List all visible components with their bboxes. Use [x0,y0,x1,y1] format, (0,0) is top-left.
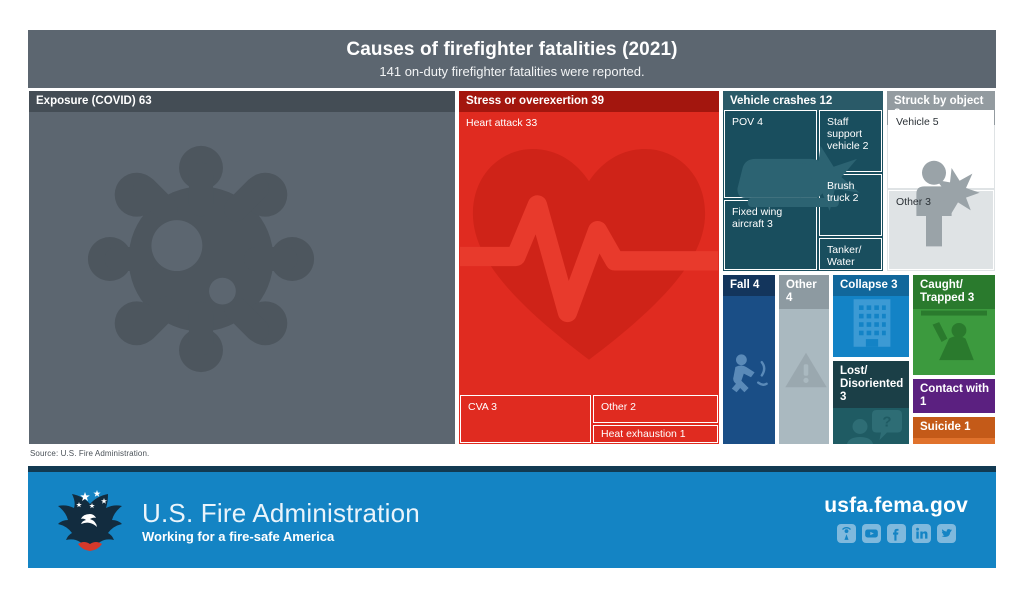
treemap-tile-staff-support[interactable]: Staff support vehicle 2 [819,110,882,172]
tile-label-tanker: Tanker/ Water tender 1 [820,239,881,270]
usfa-eagle-logo-icon [52,484,128,558]
tile-label-stress-other: Other 2 [594,396,717,413]
tile-label-suicide: Suicide 1 [913,417,995,438]
treemap-tile-pov[interactable]: POV 4 [724,110,817,198]
treemap-tile-collapse[interactable]: Collapse 3 [832,274,910,358]
treemap-tile-cva[interactable]: CVA 3 [460,395,591,443]
infographic-page: Causes of firefighter fatalities (2021) … [0,0,1024,592]
page-subtitle: 141 on-duty firefighter fatalities were … [379,64,644,79]
source-note: Source: U.S. Fire Administration. [30,449,149,458]
virus-icon [67,125,335,393]
building-icon [849,297,895,349]
tile-label-fall: Fall 4 [723,275,775,296]
treemap-tile-brush-truck[interactable]: Brush truck 2 [819,174,882,236]
tile-label-caught-trapped: Caught/ Trapped 3 [913,275,995,309]
treemap-tile-stress-other[interactable]: Other 2 [593,395,718,423]
facebook-icon[interactable] [887,524,906,543]
tile-label-struck-other: Other 3 [889,191,993,208]
treemap-tile-fall[interactable]: Fall 4 [722,274,776,445]
footer-tagline: Working for a fire-safe America [142,529,420,545]
person-question-icon: ? [841,407,903,445]
twitter-icon[interactable] [937,524,956,543]
tile-label-other: Other 4 [779,275,829,309]
tile-label-struck-vehicle: Vehicle 5 [889,111,993,128]
tile-label-exposure: Exposure (COVID) 63 [29,91,455,112]
warning-triangle-icon [783,349,829,391]
footer-org-name: U.S. Fire Administration [142,498,420,528]
tile-label-pov: POV 4 [725,111,816,128]
treemap-tile-caught-trapped[interactable]: Caught/ Trapped 3 [912,274,996,376]
footer-url[interactable]: usfa.fema.gov [824,494,968,518]
treemap-tile-exposure[interactable]: Exposure (COVID) 63 [28,90,456,445]
tile-label-cva: CVA 3 [461,396,590,413]
treemap-tile-suicide[interactable]: Suicide 1 [912,416,996,445]
tile-label-brush-truck: Brush truck 2 [820,175,881,204]
youtube-icon[interactable] [862,524,881,543]
falling-person-icon [727,349,775,397]
tile-label-stress: Stress or overexertion 39 [459,91,719,112]
treemap-tile-struck-vehicle[interactable]: Vehicle 5 [888,110,994,188]
tile-label-heat-exhaustion: Heat exhaustion 1 [594,426,717,440]
tile-label-contact-with: Contact with 1 [913,379,995,413]
treemap-tile-tanker[interactable]: Tanker/ Water tender 1 [819,238,882,270]
tile-label-lost-disoriented: Lost/ Disoriented 3 [833,361,909,408]
social-icons [824,524,968,543]
treemap-tile-other[interactable]: Other 4 [778,274,830,445]
podcast-icon[interactable] [837,524,856,543]
tile-label-staff-support: Staff support vehicle 2 [820,111,881,152]
footer-branding: U.S. Fire Administration Working for a f… [52,484,420,558]
footer-banner: U.S. Fire Administration Working for a f… [28,472,996,568]
treemap-tile-heat-exhaustion[interactable]: Heat exhaustion 1 [593,425,718,443]
treemap-tile-fixed-wing[interactable]: Fixed wing aircraft 3 [724,200,817,270]
treemap-tile-lost-disoriented[interactable]: ? Lost/ Disoriented 3 [832,360,910,445]
trapped-person-icon [921,309,987,365]
page-title: Causes of firefighter fatalities (2021) [346,39,677,61]
treemap: Exposure (COVID) 63 Stress or overexerti… [28,90,996,445]
treemap-tile-contact-with[interactable]: Contact with 1 [912,378,996,414]
linkedin-icon[interactable] [912,524,931,543]
tile-label-collapse: Collapse 3 [833,275,909,296]
svg-text:?: ? [882,414,891,431]
tile-label-fixed-wing: Fixed wing aircraft 3 [725,201,816,230]
footer-links: usfa.fema.gov [824,494,968,543]
title-bar: Causes of firefighter fatalities (2021) … [28,30,996,88]
treemap-tile-struck-other[interactable]: Other 3 [888,190,994,270]
tile-label-vehicle-crashes: Vehicle crashes 12 [723,91,883,112]
heartbeat-icon [460,110,718,403]
tile-label-heart-attack: Heart attack 33 [459,112,719,129]
